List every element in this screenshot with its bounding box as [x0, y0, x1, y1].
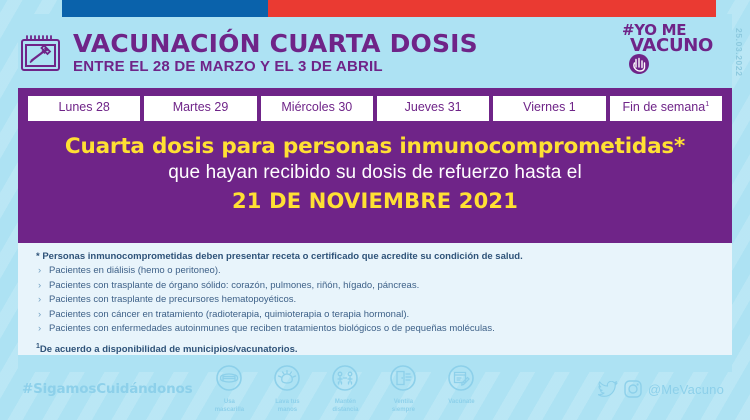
list-item: ›Pacientes con trasplante de precursores… [36, 293, 718, 308]
publication-date: 25.03.2022 [734, 28, 744, 77]
vaccinate-icon [447, 364, 475, 392]
headline-line-2: que hayan recibido su dosis de refuerzo … [28, 161, 722, 186]
day-cell[interactable]: Miércoles 30 [261, 96, 373, 121]
chevron-right-icon: › [38, 264, 41, 279]
care-item-label: Ventilasiempre [380, 399, 426, 414]
day-label: Jueves 31 [405, 100, 462, 114]
list-item-text: Pacientes con trasplante de precursores … [49, 294, 296, 305]
instagram-icon[interactable] [624, 380, 642, 398]
list-item: ›Pacientes en diálisis (hemo o peritoneo… [36, 264, 718, 279]
main-panel: Lunes 28 Martes 29 Miércoles 30 Jueves 3… [18, 88, 732, 243]
notes-footnote: 1De acuerdo a disponibilidad de municipi… [36, 342, 718, 357]
day-cell[interactable]: Fin de semana1 [610, 96, 722, 121]
care-item: Lava tusmanos [264, 364, 310, 414]
flag-bar [62, 0, 716, 17]
chevron-right-icon: › [38, 308, 41, 323]
footer-hashtag: #SigamosCuidándonos [22, 381, 192, 397]
list-item-text: Pacientes en diálisis (hemo o peritoneo)… [49, 265, 221, 276]
care-item-label: Lava tusmanos [264, 399, 310, 414]
headline-block: Cuarta dosis para personas inmunocomprom… [28, 121, 722, 213]
calendar-syringe-icon [18, 32, 64, 74]
social-links[interactable]: @MeVacuno [598, 380, 724, 398]
day-label: Viernes 1 [523, 100, 576, 114]
care-item: Vacúnate [438, 364, 484, 414]
notes-panel: * Personas inmunocomprometidas deben pre… [18, 243, 732, 355]
care-item: Manténdistancia [322, 364, 368, 414]
twitter-icon[interactable] [598, 381, 618, 398]
care-item-label: Usamascarilla [206, 399, 252, 414]
mask-icon [215, 364, 243, 392]
care-item: Usamascarilla [206, 364, 252, 414]
day-cell[interactable]: Lunes 28 [28, 96, 140, 121]
page-title: VACUNACIÓN CUARTA DOSIS [73, 31, 478, 57]
day-footnote-marker: 1 [705, 101, 709, 108]
distance-icon [331, 364, 359, 392]
headline-line-3: 21 DE NOVIEMBRE 2021 [28, 189, 722, 213]
list-item-text: Pacientes con enfermedades autoinmunes q… [49, 323, 495, 334]
wash-hands-icon [273, 364, 301, 392]
day-cell[interactable]: Jueves 31 [377, 96, 489, 121]
page-subtitle: ENTRE EL 28 DE MARZO Y EL 3 DE ABRIL [73, 58, 478, 75]
flag-red-segment [268, 0, 716, 17]
raised-hand-icon [628, 51, 650, 77]
list-item-text: Pacientes con cáncer en tratamiento (rad… [49, 309, 409, 320]
chevron-right-icon: › [38, 279, 41, 294]
yo-me-vacuno-logo: #YO ME VACUNO [622, 24, 714, 82]
day-label: Lunes 28 [58, 100, 109, 114]
day-label: Fin de semana [623, 100, 706, 114]
ventilate-icon [389, 364, 417, 392]
headline-line-1: Cuarta dosis para personas inmunocomprom… [28, 135, 722, 160]
flag-blue-segment [62, 0, 268, 17]
day-cell[interactable]: Martes 29 [144, 96, 256, 121]
care-item: Ventilasiempre [380, 364, 426, 414]
chevron-right-icon: › [38, 322, 41, 337]
footnote-text: De acuerdo a disponibilidad de municipio… [40, 344, 298, 355]
days-row: Lunes 28 Martes 29 Miércoles 30 Jueves 3… [28, 96, 722, 121]
list-item-text: Pacientes con trasplante de órgano sólid… [49, 280, 419, 291]
footer: #SigamosCuidándonos Usamascarilla [0, 358, 750, 420]
list-item: ›Pacientes con cáncer en tratamiento (ra… [36, 308, 718, 323]
care-item-label: Manténdistancia [322, 399, 368, 414]
care-measures-list: Usamascarilla Lava tusmanos [206, 364, 484, 414]
list-item: ›Pacientes con trasplante de órgano sóli… [36, 279, 718, 294]
day-label: Martes 29 [173, 100, 229, 114]
notes-heading: * Personas inmunocomprometidas deben pre… [36, 250, 718, 264]
day-label: Miércoles 30 [281, 100, 352, 114]
list-item: ›Pacientes con enfermedades autoinmunes … [36, 322, 718, 337]
day-cell[interactable]: Viernes 1 [493, 96, 605, 121]
care-item-label: Vacúnate [438, 399, 484, 407]
chevron-right-icon: › [38, 293, 41, 308]
social-handle[interactable]: @MeVacuno [648, 382, 724, 397]
